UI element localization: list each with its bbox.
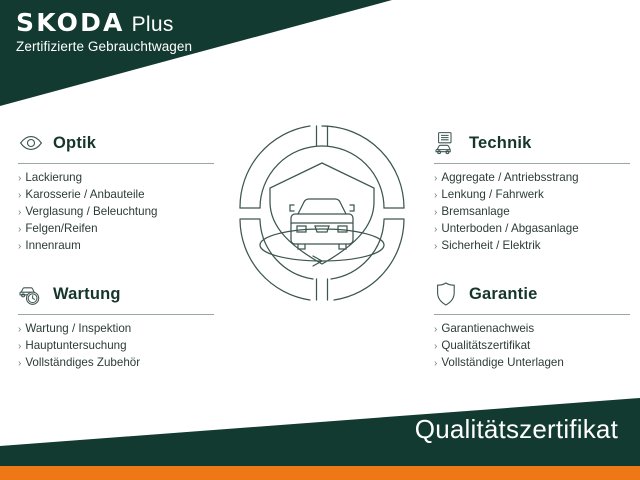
shield-icon [434, 281, 460, 307]
emblem-orbit [260, 229, 384, 261]
list-item-label: Lenkung / Fahrwerk [441, 187, 543, 204]
list-item: ›Karosserie / Anbauteile [18, 187, 214, 204]
chevron-right-icon: › [18, 221, 21, 238]
panel-garantie: Garantie ›Garantienachweis ›Qualitätszer… [434, 279, 630, 372]
list-item-label: Vollständige Unterlagen [441, 355, 563, 372]
left-column: Optik ›Lackierung ›Karosserie / Anbautei… [18, 128, 214, 390]
list-item-label: Lackierung [25, 170, 82, 187]
list-item: ›Wartung / Inspektion [18, 321, 214, 338]
list-item: ›Hauptuntersuchung [18, 338, 214, 355]
list-item-label: Hauptuntersuchung [25, 338, 126, 355]
panel-optik-title: Optik [53, 134, 96, 153]
car-clock-icon [18, 281, 44, 307]
list-item: ›Sicherheit / Elektrik [434, 238, 630, 255]
panel-optik-header: Optik [18, 128, 214, 158]
list-item-label: Karosserie / Anbauteile [25, 187, 144, 204]
list-item-label: Qualitätszertifikat [441, 338, 530, 355]
skoda-wordmark-icon: SKODA Plus [16, 10, 192, 35]
panel-technik-divider [434, 163, 630, 164]
brand-suffix: Plus [132, 14, 174, 35]
panel-garantie-list: ›Garantienachweis ›Qualitätszertifikat ›… [434, 321, 630, 372]
list-item: ›Verglasung / Beleuchtung [18, 204, 214, 221]
list-item: ›Aggregate / Antriebsstrang [434, 170, 630, 187]
panel-technik-title: Technik [469, 134, 532, 153]
chevron-right-icon: › [18, 187, 21, 204]
chevron-right-icon: › [434, 204, 437, 221]
list-item: ›Garantienachweis [434, 321, 630, 338]
list-item: ›Qualitätszertifikat [434, 338, 630, 355]
chevron-right-icon: › [434, 355, 437, 372]
shield-car-target-icon [236, 122, 408, 304]
eye-icon [18, 130, 44, 156]
list-item-label: Aggregate / Antriebsstrang [441, 170, 578, 187]
panel-garantie-header: Garantie [434, 279, 630, 309]
list-item: ›Vollständiges Zubehör [18, 355, 214, 372]
panel-optik-list: ›Lackierung ›Karosserie / Anbauteile ›Ve… [18, 170, 214, 255]
chevron-right-icon: › [434, 187, 437, 204]
right-column: Technik ›Aggregate / Antriebsstrang ›Len… [434, 128, 630, 390]
car-document-icon [434, 130, 460, 156]
panel-wartung-divider [18, 314, 214, 315]
panel-garantie-title: Garantie [469, 285, 538, 304]
chevron-right-icon: › [434, 221, 437, 238]
chevron-right-icon: › [434, 170, 437, 187]
list-item-label: Wartung / Inspektion [25, 321, 131, 338]
panel-technik-list: ›Aggregate / Antriebsstrang ›Lenkung / F… [434, 170, 630, 255]
list-item: ›Lenkung / Fahrwerk [434, 187, 630, 204]
emblem-crosshair-ticks [240, 126, 404, 300]
chevron-right-icon: › [18, 338, 21, 355]
brand-name: SKODA [16, 10, 125, 35]
footer-caption: Qualitätszertifikat [415, 414, 618, 445]
panel-wartung: Wartung ›Wartung / Inspektion ›Hauptunte… [18, 279, 214, 372]
list-item-label: Innenraum [25, 238, 80, 255]
list-item: ›Felgen/Reifen [18, 221, 214, 238]
panel-technik-header: Technik [434, 128, 630, 158]
panel-garantie-divider [434, 314, 630, 315]
chevron-right-icon: › [18, 170, 21, 187]
list-item-label: Verglasung / Beleuchtung [25, 204, 157, 221]
emblem-outer-ring [240, 126, 404, 300]
chevron-right-icon: › [18, 204, 21, 221]
list-item: ›Unterboden / Abgasanlage [434, 221, 630, 238]
chevron-right-icon: › [18, 355, 21, 372]
emblem-car [290, 199, 354, 249]
panel-wartung-list: ›Wartung / Inspektion ›Hauptuntersuchung… [18, 321, 214, 372]
list-item-label: Bremsanlage [441, 204, 509, 221]
list-item-label: Vollständiges Zubehör [25, 355, 140, 372]
footer-orange-stripe [0, 466, 640, 480]
list-item-label: Unterboden / Abgasanlage [441, 221, 578, 238]
brand-logo: SKODA Plus Zertifizierte Gebrauchtwagen [16, 10, 192, 54]
list-item: ›Bremsanlage [434, 204, 630, 221]
list-item: ›Vollständige Unterlagen [434, 355, 630, 372]
panel-technik: Technik ›Aggregate / Antriebsstrang ›Len… [434, 128, 630, 255]
panel-wartung-title: Wartung [53, 285, 121, 304]
list-item-label: Sicherheit / Elektrik [441, 238, 540, 255]
chevron-right-icon: › [18, 321, 21, 338]
list-item: ›Innenraum [18, 238, 214, 255]
panel-optik-divider [18, 163, 214, 164]
panel-optik: Optik ›Lackierung ›Karosserie / Anbautei… [18, 128, 214, 255]
panel-wartung-header: Wartung [18, 279, 214, 309]
chevron-right-icon: › [434, 321, 437, 338]
chevron-right-icon: › [434, 338, 437, 355]
list-item: ›Lackierung [18, 170, 214, 187]
brand-tagline: Zertifizierte Gebrauchtwagen [16, 39, 192, 54]
certificate-poster: SKODA Plus Zertifizierte Gebrauchtwagen … [0, 0, 640, 480]
list-item-label: Garantienachweis [441, 321, 534, 338]
list-item-label: Felgen/Reifen [25, 221, 97, 238]
chevron-right-icon: › [434, 238, 437, 255]
chevron-right-icon: › [18, 238, 21, 255]
emblem-inner-ring [260, 146, 384, 279]
